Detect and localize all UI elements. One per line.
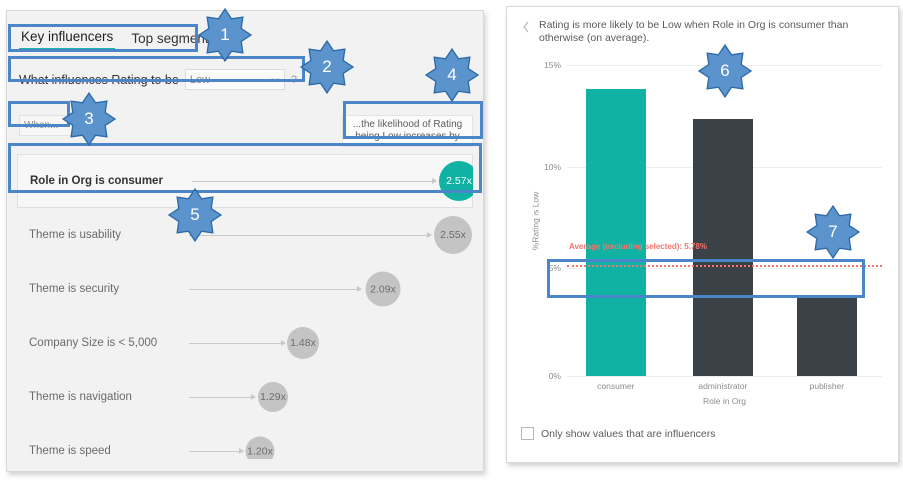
- influencer-track: 2.09x: [179, 262, 473, 316]
- callout-badge-1: 1: [198, 8, 252, 62]
- x-tick-label: publisher: [810, 381, 845, 391]
- x-tick-label: administrator: [698, 381, 747, 391]
- arrow-head-icon: [427, 232, 432, 238]
- influencer-bubble[interactable]: 1.20x: [246, 437, 275, 460]
- list-item[interactable]: Theme is speed 1.20x: [17, 424, 473, 459]
- question-row: What influences Rating to be Low ?: [19, 69, 297, 90]
- detail-header: Rating is more likely to be Low when Rol…: [521, 19, 884, 45]
- callout-badge-5: 5: [168, 188, 222, 242]
- target-value-dropdown[interactable]: Low: [185, 69, 285, 90]
- checkbox-icon[interactable]: [521, 427, 534, 440]
- influencer-value: 1.29x: [260, 391, 286, 403]
- callout-badge-number: 3: [62, 92, 116, 146]
- arrow-head-icon: [432, 178, 437, 184]
- x-axis-label: Role in Org: [703, 396, 746, 406]
- influencer-bubble[interactable]: 2.55x: [434, 216, 472, 254]
- x-tick-label: consumer: [597, 381, 634, 391]
- influencer-value: 1.20x: [247, 445, 273, 457]
- callout-badge-number: 1: [198, 8, 252, 62]
- gridline: [567, 376, 882, 377]
- chevron-left-icon[interactable]: [521, 20, 531, 34]
- influencer-value: 2.57x: [446, 175, 472, 187]
- list-item[interactable]: Role in Org is consumer 2.57x: [17, 154, 473, 208]
- detail-title: Rating is more likely to be Low when Rol…: [539, 19, 884, 45]
- connector-line: [192, 181, 432, 182]
- influencer-value: 1.48x: [290, 337, 316, 349]
- arrow-head-icon: [251, 394, 256, 400]
- callout-badge-number: 4: [425, 48, 479, 102]
- y-tick-label: 5%: [527, 263, 561, 273]
- when-column-header-label: When...: [24, 120, 58, 131]
- connector-line: [189, 289, 357, 290]
- bar-publisher[interactable]: [797, 295, 857, 376]
- influencer-track: 1.29x: [179, 370, 473, 424]
- only-influencers-checkbox-label: Only show values that are influencers: [541, 428, 716, 440]
- average-reference-label: Average (excluding selected): 5.78%: [569, 242, 707, 251]
- callout-badge-number: 5: [168, 188, 222, 242]
- dropdown-selected-value: Low: [190, 74, 210, 86]
- callout-badge-6: 6: [698, 44, 752, 98]
- tab-key-influencers[interactable]: Key influencers: [19, 29, 115, 50]
- y-tick-label: 15%: [527, 60, 561, 70]
- likelihood-column-header: ...the likelihood of Rating being Low in…: [342, 115, 473, 147]
- connector-line: [189, 397, 251, 398]
- influencer-label: Company Size is < 5,000: [17, 337, 179, 349]
- influencer-label: Theme is speed: [17, 445, 179, 457]
- list-item[interactable]: Theme is navigation 1.29x: [17, 370, 473, 424]
- influencer-label: Theme is security: [17, 283, 179, 295]
- panel-tabs: Key influencers Top segments: [19, 29, 217, 50]
- arrow-head-icon: [357, 286, 362, 292]
- only-influencers-checkbox-row[interactable]: Only show values that are influencers: [521, 427, 716, 440]
- influencer-label: Theme is usability: [17, 229, 179, 241]
- influencer-label: Theme is navigation: [17, 391, 179, 403]
- y-tick-label: 10%: [527, 162, 561, 172]
- influencer-label: Role in Org is consumer: [18, 175, 180, 187]
- connector-line: [189, 451, 239, 452]
- key-influencers-panel: Key influencers Top segments What influe…: [6, 10, 484, 472]
- influencers-list[interactable]: Role in Org is consumer 2.57x Theme is u…: [17, 154, 473, 459]
- callout-badge-4: 4: [425, 48, 479, 102]
- callout-badge-2: 2: [300, 40, 354, 94]
- influencer-track: 2.57x: [180, 154, 472, 208]
- influencer-track: 1.48x: [179, 316, 473, 370]
- influencer-track: 2.55x: [179, 208, 473, 262]
- chevron-down-icon: [271, 76, 279, 84]
- influencer-track: 1.20x: [179, 424, 473, 459]
- bar-consumer[interactable]: [586, 89, 646, 376]
- y-axis-label: %Rating is Low: [531, 191, 541, 250]
- callout-badge-number: 7: [806, 205, 860, 259]
- connector-line: [189, 235, 427, 236]
- influencer-value: 2.55x: [440, 229, 466, 241]
- arrow-head-icon: [239, 448, 244, 454]
- influencer-bubble[interactable]: 1.48x: [287, 327, 319, 359]
- average-reference-line: [567, 265, 882, 267]
- list-item[interactable]: Company Size is < 5,000 1.48x: [17, 316, 473, 370]
- y-tick-label: 0%: [527, 371, 561, 381]
- callout-badge-number: 2: [300, 40, 354, 94]
- list-item[interactable]: Theme is security 2.09x: [17, 262, 473, 316]
- influencer-bubble[interactable]: 2.57x: [439, 161, 473, 201]
- callout-badge-3: 3: [62, 92, 116, 146]
- influencer-bubble[interactable]: 2.09x: [366, 272, 401, 307]
- connector-line: [189, 343, 281, 344]
- influencer-value: 2.09x: [370, 283, 396, 295]
- callout-badge-number: 6: [698, 44, 752, 98]
- callout-badge-7: 7: [806, 205, 860, 259]
- question-label: What influences Rating to be: [19, 73, 179, 87]
- likelihood-column-header-label: ...the likelihood of Rating being Low in…: [347, 119, 468, 143]
- arrow-head-icon: [281, 340, 286, 346]
- list-item[interactable]: Theme is usability 2.55x: [17, 208, 473, 262]
- help-icon[interactable]: ?: [291, 74, 297, 86]
- influencer-bubble[interactable]: 1.29x: [258, 382, 288, 412]
